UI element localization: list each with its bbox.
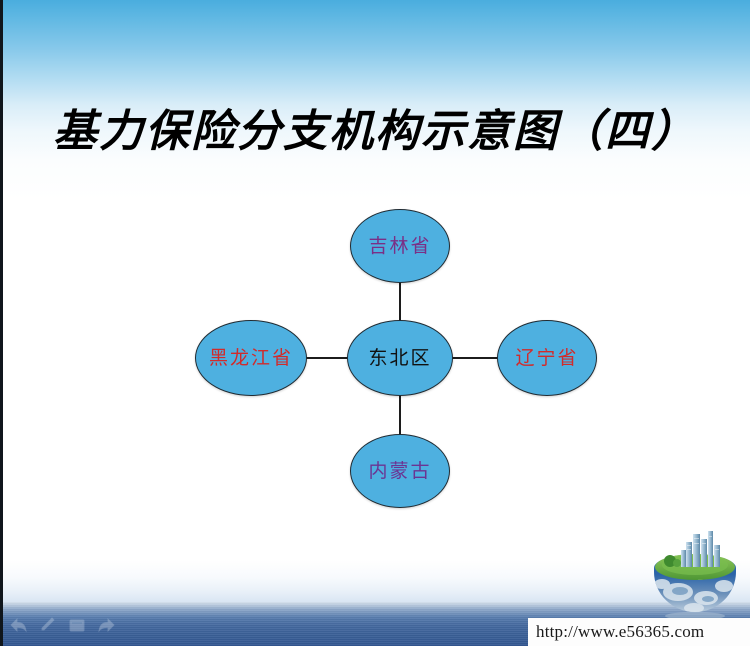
pen-icon[interactable] bbox=[39, 617, 57, 633]
earth-city-globe-logo bbox=[648, 528, 742, 620]
node-heilongjiang-label: 黑龙江省 bbox=[209, 349, 293, 368]
node-northeast-region-label: 东北区 bbox=[368, 349, 431, 368]
node-heilongjiang[interactable]: 黑龙江省 bbox=[195, 320, 307, 396]
node-liaoning-label: 辽宁省 bbox=[515, 349, 578, 368]
next-slide-icon[interactable] bbox=[97, 617, 117, 633]
node-jilin-label: 吉林省 bbox=[368, 237, 431, 256]
connector-center-to-bottom bbox=[399, 394, 401, 436]
previous-slide-icon[interactable] bbox=[8, 617, 28, 633]
connector-center-to-left bbox=[300, 357, 350, 359]
node-inner-mongolia-label: 内蒙古 bbox=[368, 462, 431, 481]
node-liaoning[interactable]: 辽宁省 bbox=[497, 320, 597, 396]
node-jilin[interactable]: 吉林省 bbox=[350, 209, 450, 283]
slideshow-controls[interactable] bbox=[8, 612, 118, 638]
node-northeast-region[interactable]: 东北区 bbox=[347, 320, 453, 396]
connector-center-to-right bbox=[450, 357, 500, 359]
connector-center-to-top bbox=[399, 281, 401, 323]
node-inner-mongolia[interactable]: 内蒙古 bbox=[350, 434, 450, 508]
presentation-slide: 基力保险分支机构示意图（四） 吉林省 黑龙江省 东北区 辽宁省 内蒙古 bbox=[0, 0, 750, 646]
watermark-bar: http://www.e56365.com bbox=[528, 618, 750, 646]
slide-menu-icon[interactable] bbox=[68, 617, 86, 633]
watermark-url: http://www.e56365.com bbox=[536, 622, 704, 642]
org-chart-diagram: 吉林省 黑龙江省 东北区 辽宁省 内蒙古 bbox=[0, 0, 750, 646]
